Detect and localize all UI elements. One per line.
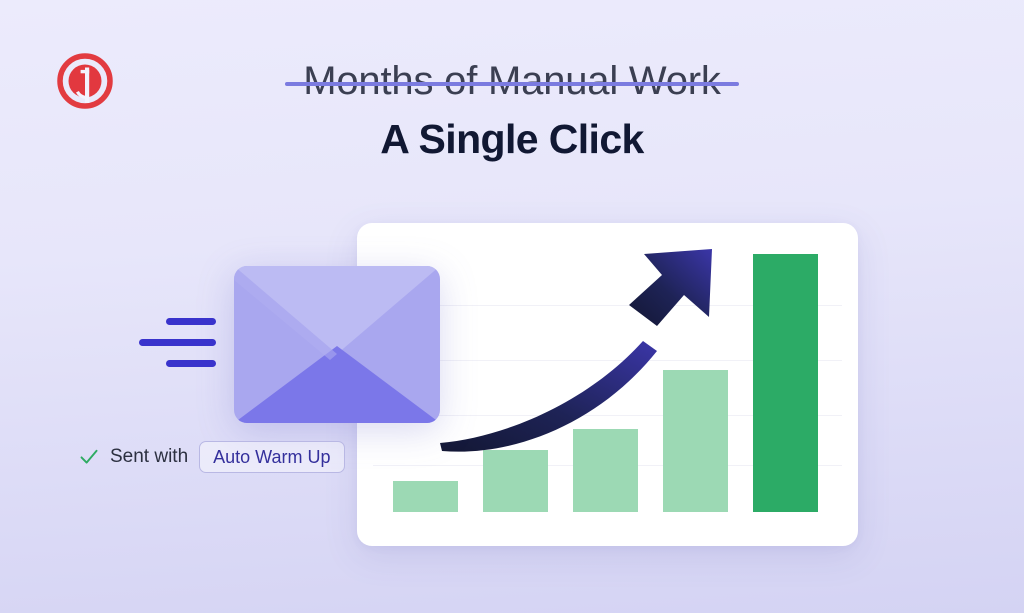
speed-line	[139, 339, 216, 346]
brand-logo	[57, 53, 113, 109]
envelope-icon	[234, 266, 440, 423]
speed-lines-icon	[136, 316, 216, 370]
circular-target-logo-icon	[57, 53, 113, 109]
sent-with-row: Sent with Auto Warm Up	[79, 441, 345, 473]
sent-with-label: Sent with	[110, 446, 188, 468]
auto-warm-up-badge[interactable]: Auto Warm Up	[199, 441, 344, 473]
speed-line	[166, 360, 216, 367]
green-check-icon	[79, 447, 99, 467]
headline-main-text: A Single Click	[0, 115, 1024, 164]
headline-struck-text: Months of Manual Work	[303, 59, 720, 103]
speed-line	[166, 318, 216, 325]
headline-struck-line: Months of Manual Work	[285, 58, 738, 105]
strikethrough-rule	[285, 82, 738, 86]
promo-canvas: Months of Manual Work A Single Click	[0, 0, 1024, 613]
headline-block: Months of Manual Work A Single Click	[0, 58, 1024, 164]
